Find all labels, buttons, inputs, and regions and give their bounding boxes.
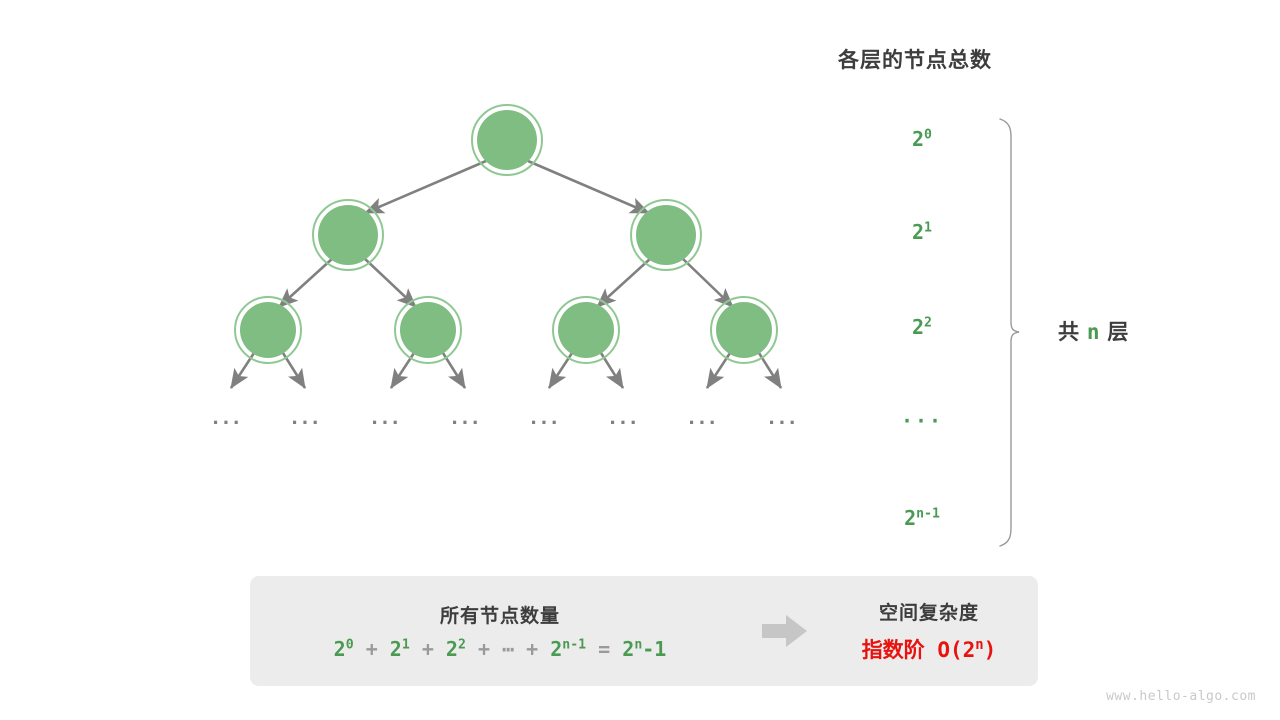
leaf-ellipsis-7: ··· [674,412,734,434]
formula-plus-3: + [478,637,490,661]
total-layers-suffix: 层 [1107,321,1129,344]
leaf-ellipsis-8: ··· [754,412,814,434]
level-count-ellipsis: ··· [862,409,982,433]
formula-plus-1: + [366,637,378,661]
summary-nodes-section: 所有节点数量 20 + 21 + 22 + ⋯ + 2n-1 = 2n-1 [250,576,750,686]
level-count-0: 20 [862,127,982,151]
complexity-name: 指数阶 [862,638,925,662]
edge-lr-a [391,353,414,388]
formula-plus-4: + [526,637,538,661]
formula-result: 2n-1 [622,637,666,661]
edge-lr-b [443,353,465,388]
edge-rr-a [707,353,730,388]
leaf-ellipsis-2: ··· [277,412,337,434]
tree-node-left-left[interactable] [235,297,301,363]
leaf-ellipsis-5: ··· [516,412,576,434]
edge-rl-b [601,353,623,388]
tree-node-left[interactable] [313,200,383,270]
leaf-ellipsis-6: ··· [595,412,655,434]
diagram-canvas: 各层的节点总数 20 21 22 ··· 2n-1 共 n 层 ··· ··· … [0,0,1280,720]
edge-ll-b [283,353,305,388]
leaf-ellipsis-3: ··· [357,412,417,434]
edge-left-lr [364,258,416,307]
edge-ll-a [231,353,254,388]
total-layers-prefix: 共 [1058,321,1080,344]
formula-last-term: 2n-1 [550,637,586,661]
tree-node-right[interactable] [631,200,701,270]
edge-rr-b [759,353,781,388]
edge-root-left [365,161,486,213]
levels-brace [1000,119,1019,546]
right-arrow-icon [762,614,808,648]
formula-term-2: 22 [446,637,466,661]
node-count-formula: 20 + 21 + 22 + ⋯ + 2n-1 = 2n-1 [334,637,667,661]
watermark: www.hello-algo.com [1106,689,1256,704]
summary-complexity-section: 空间复杂度 指数阶 O(2n) [820,576,1038,686]
leaf-ellipsis-4: ··· [437,412,497,434]
formula-plus-2: + [422,637,434,661]
tree-nodes [235,105,777,363]
complexity-notation: O(2n) [937,638,996,662]
level-count-n-1: 2n-1 [862,506,982,530]
edge-right-rr [682,258,733,307]
edge-left-ll [279,258,333,307]
edge-root-right [528,161,649,213]
page-title: 各层的节点总数 [838,44,1038,74]
formula-ellipsis: ⋯ [502,637,514,661]
formula-equals: = [598,637,610,661]
tree-node-root[interactable] [472,105,542,175]
leaf-ellipsis-1: ··· [198,412,258,434]
space-complexity-value: 指数阶 O(2n) [862,634,997,664]
edge-right-rl [597,258,651,307]
space-complexity-heading: 空间复杂度 [879,598,979,625]
total-layers-variable: n [1087,320,1101,344]
formula-term-0: 20 [334,637,354,661]
tree-node-right-left[interactable] [553,297,619,363]
tree-edges [231,161,781,388]
level-count-2: 22 [862,315,982,339]
level-count-1: 21 [862,220,982,244]
all-nodes-heading: 所有节点数量 [440,601,560,628]
total-layers-caption: 共 n 层 [1058,316,1129,346]
tree-node-left-right[interactable] [395,297,461,363]
edge-rl-a [549,353,572,388]
tree-node-right-right[interactable] [711,297,777,363]
formula-term-1: 21 [390,637,410,661]
